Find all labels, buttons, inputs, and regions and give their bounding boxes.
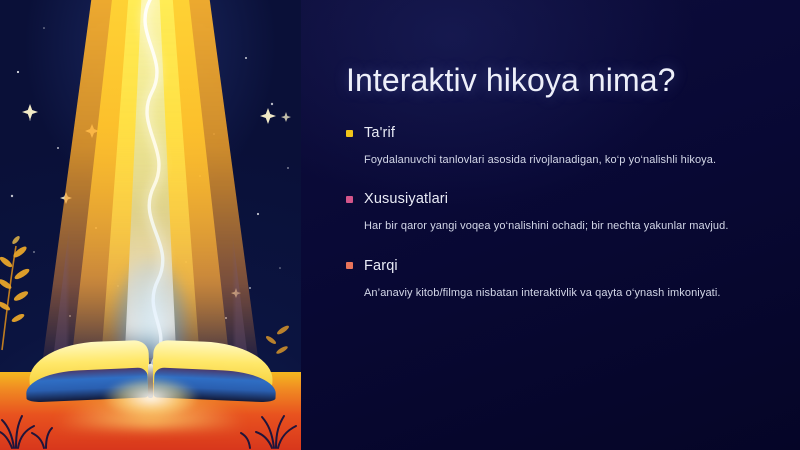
section-heading-row: Farqi (346, 258, 760, 274)
page-title: Interaktiv hikoya nima? (346, 62, 760, 99)
slide: Interaktiv hikoya nima? Ta'rif Foydalanu… (0, 0, 800, 450)
bullet-square-icon (346, 130, 353, 137)
bullet-square-icon (346, 196, 353, 203)
section-title: Farqi (364, 258, 398, 274)
fern-plant-left (0, 222, 48, 352)
bullet-square-icon (346, 262, 353, 269)
section-body: Foydalanuvchi tanlovlari asosida rivojla… (364, 150, 736, 171)
section-title: Xususiyatlari (364, 191, 448, 207)
section-tarif: Ta'rif Foydalanuvchi tanlovlari asosida … (346, 125, 760, 171)
content-panel: Interaktiv hikoya nima? Ta'rif Foydalanu… (301, 0, 800, 450)
section-heading-row: Ta'rif (346, 125, 760, 141)
section-farqi: Farqi An’anaviy kitob/filmga nisbatan in… (346, 258, 760, 304)
book-light-burst (86, 370, 216, 416)
section-body: An’anaviy kitob/filmga nisbatan interakt… (364, 283, 736, 304)
section-title: Ta'rif (364, 125, 395, 141)
section-body: Har bir qaror yangi voqea yo‘nalishini o… (364, 216, 736, 237)
section-heading-row: Xususiyatlari (346, 191, 760, 207)
section-xususiyatlari: Xususiyatlari Har bir qaror yangi voqea … (346, 191, 760, 237)
illustration-panel (0, 0, 301, 450)
